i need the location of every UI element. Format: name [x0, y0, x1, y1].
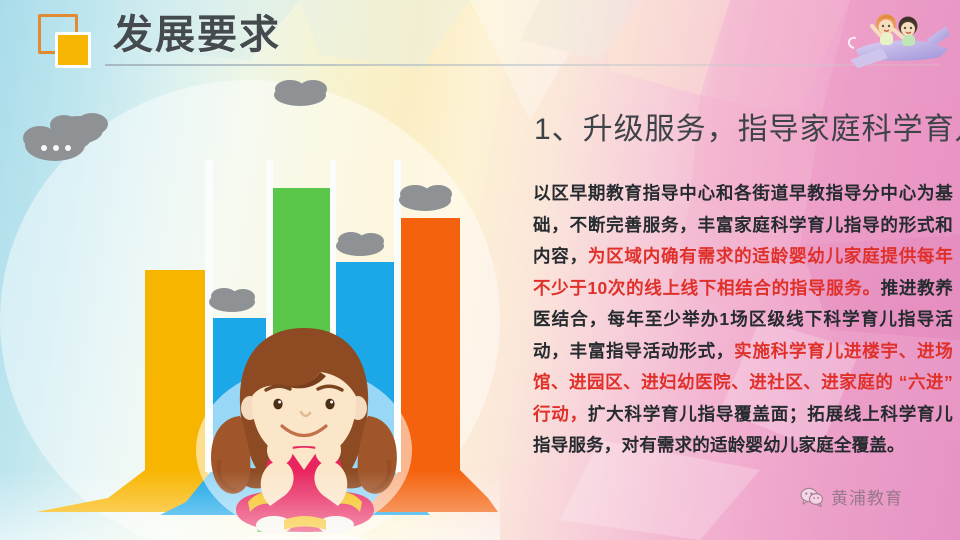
cloud-icon-6	[399, 185, 452, 211]
page-title: 发展要求	[113, 8, 281, 62]
wechat-icon	[800, 486, 824, 508]
section-heading: 1、升级服务，指导家庭科学育儿	[534, 108, 954, 152]
bar-chart-illustration	[0, 70, 500, 540]
cloud-icon-5	[336, 232, 384, 256]
section-body: 以区早期教育指导中心和各街道早教指导分中心为基础，不断完善服务，丰富家庭科学育儿…	[533, 178, 953, 462]
header-divider	[105, 64, 940, 66]
slide-canvas: 发展要求	[0, 0, 960, 540]
header-icon	[38, 14, 100, 62]
watermark: 黄浦教育	[800, 484, 903, 509]
square-filled-icon	[55, 32, 91, 68]
cloud-icon-4	[209, 288, 255, 312]
watermark-label: 黄浦教育	[831, 484, 903, 509]
body-run-plain-3: 扩大科学育儿指导覆盖面；拓展线上科学育儿指导服务，对有需求的适龄婴幼儿家庭全覆盖…	[533, 404, 953, 456]
cloud-icon-3	[274, 80, 327, 106]
kids-on-airplane-icon	[842, 2, 954, 72]
